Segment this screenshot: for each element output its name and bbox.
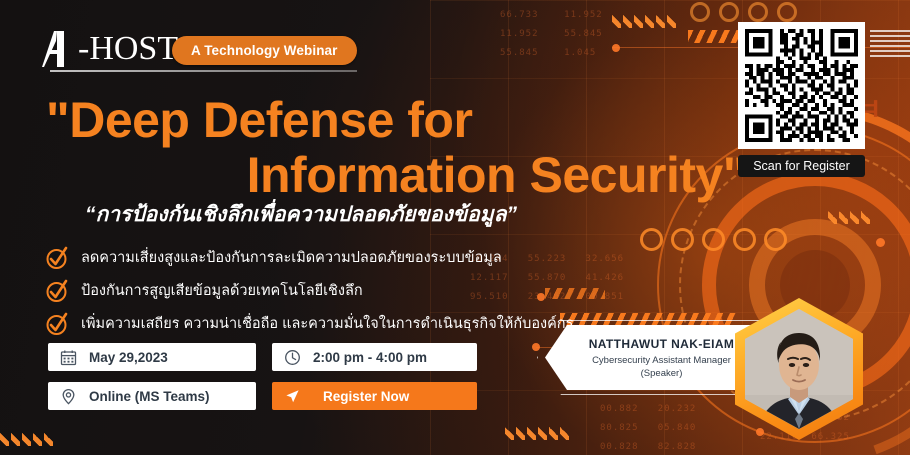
- register-now-button[interactable]: Register Now: [272, 382, 477, 410]
- node-dot-decor-5: [876, 238, 885, 247]
- chevron-arrows-decor-right: [828, 208, 870, 224]
- event-date-label: May 29,2023: [89, 350, 168, 365]
- speaker-tag: (Speaker): [641, 368, 683, 379]
- cursor-arrow-icon: [284, 388, 301, 405]
- list-item: ป้องกันการสูญเสียข้อมูลด้วยเทคโนโลยีเชิง…: [44, 277, 604, 305]
- speaker-photo-frame: [735, 298, 863, 440]
- check-circle-icon: [44, 278, 70, 304]
- title-line-1: "Deep Defense for: [46, 92, 472, 148]
- list-item: ลดความเสี่ยงสูงและป้องกันการละเมิดความปล…: [44, 244, 604, 272]
- benefit-list: ลดความเสี่ยงสูงและป้องกันการละเมิดความปล…: [44, 244, 604, 343]
- speaker-role: Cybersecurity Assistant Manager: [592, 355, 731, 366]
- event-time-label: 2:00 pm - 4:00 pm: [313, 350, 427, 365]
- event-location-label: Online (MS Teams): [89, 389, 210, 404]
- speaker-card: NATTHAWUT NAK-EIAM Cybersecurity Assista…: [545, 325, 760, 390]
- clock-icon: [284, 349, 301, 366]
- thai-subtitle: “การป้องกันเชิงลึกเพื่อความปลอดภัยของข้อ…: [46, 200, 746, 230]
- title-line-2: Information Security": [46, 148, 746, 203]
- node-dot-decor-4: [756, 428, 764, 436]
- speaker-name: NATTHAWUT NAK-EIAM: [589, 337, 735, 351]
- chevron-arrows-decor: [612, 12, 676, 28]
- list-item-label: ป้องกันการสูญเสียข้อมูลด้วยเทคโนโลยีเชิง…: [81, 281, 363, 301]
- node-dot-decor-3: [532, 343, 540, 351]
- list-item: เพิ่มความเสถียร ความน่าเชื่อถือ และความม…: [44, 310, 604, 338]
- check-circle-icon: [44, 245, 70, 271]
- event-details: May 29,2023 2:00 pm - 4:00 pm: [48, 343, 477, 421]
- webinar-banner: ⤆ 66.733 11.952 11.952 55.845 55.845 1.0…: [0, 0, 910, 455]
- number-noise-d: 00.882 20.232 80.825 05.840 00.828 82.82…: [600, 400, 696, 455]
- company-logo: -HOST: [42, 28, 178, 70]
- list-item-label: เพิ่มความเสถียร ความน่าเชื่อถือ และความม…: [81, 314, 573, 334]
- event-date: May 29,2023: [48, 343, 256, 371]
- circle-dots-decor-top: [690, 2, 797, 22]
- register-now-label: Register Now: [323, 389, 409, 404]
- number-noise-a: 66.733 11.952 11.952 55.845 55.845 1.045: [500, 6, 603, 63]
- event-time: 2:00 pm - 4:00 pm: [272, 343, 477, 371]
- qr-caption: Scan for Register: [738, 155, 865, 177]
- a-host-logo-mark: [42, 29, 76, 69]
- check-circle-icon: [44, 311, 70, 337]
- list-item-label: ลดความเสี่ยงสูงและป้องกันการละเมิดความปล…: [81, 248, 502, 268]
- location-pin-icon: [60, 388, 77, 405]
- speaker-portrait: [745, 309, 853, 429]
- calendar-icon: [60, 349, 77, 366]
- circle-dots-decor: [640, 228, 787, 251]
- chevron-arrows-decor-bottom: [505, 424, 569, 440]
- header-divider: [50, 70, 357, 72]
- qr-register-block[interactable]: Scan for Register: [738, 22, 865, 177]
- webinar-badge: A Technology Webinar: [172, 36, 357, 65]
- chevron-arrows-decor-left: [0, 430, 53, 446]
- page-title: "Deep Defense for Information Security": [46, 93, 746, 203]
- event-location: Online (MS Teams): [48, 382, 256, 410]
- node-dot-decor: [612, 44, 620, 52]
- barcode-decor-top: [870, 30, 910, 58]
- qr-code[interactable]: [738, 22, 865, 149]
- company-logo-text: -HOST: [78, 29, 178, 69]
